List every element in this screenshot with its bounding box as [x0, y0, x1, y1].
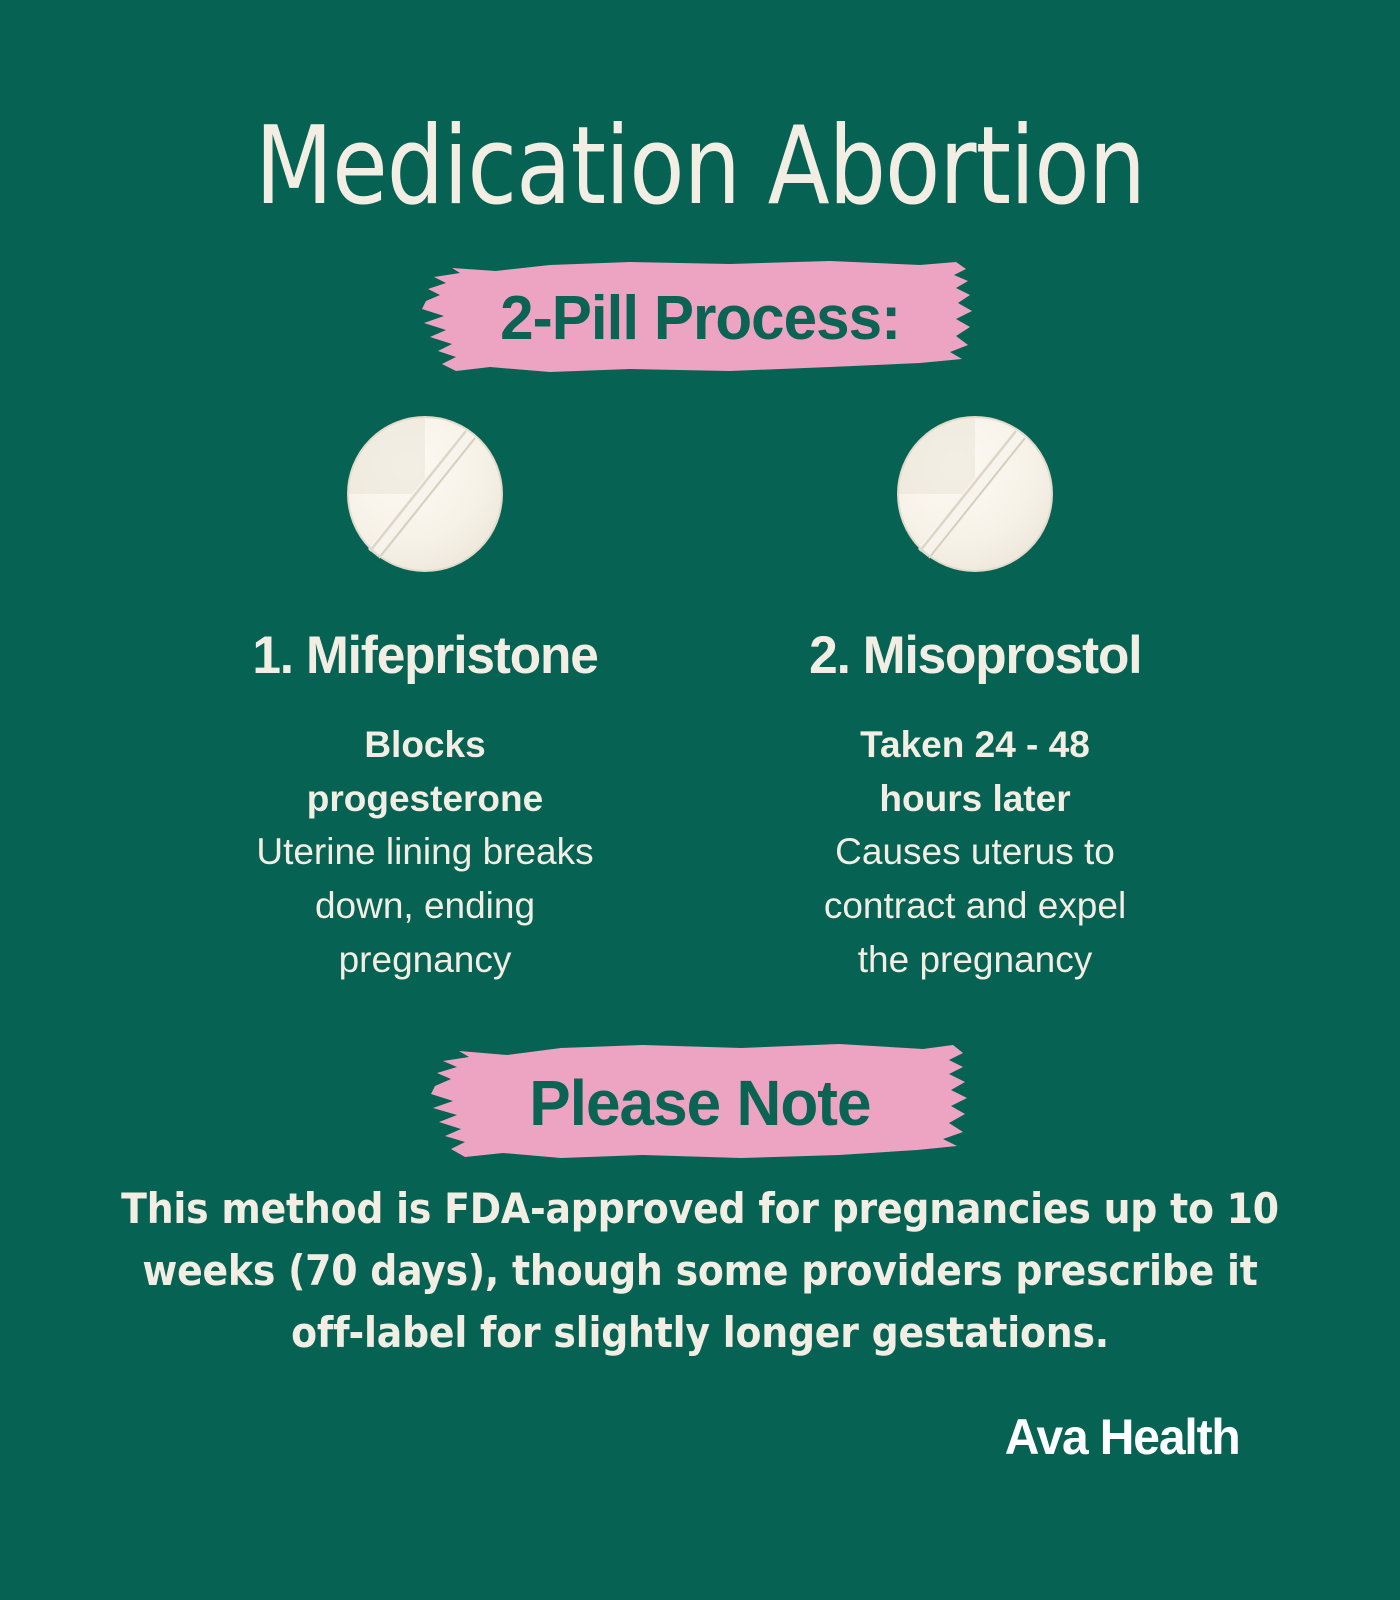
step-bold-text-2: Taken 24 - 48 hours later — [805, 718, 1145, 825]
step-plain-text-1: Uterine lining breaks down, ending pregn… — [255, 825, 595, 986]
step-description-2: Taken 24 - 48 hours later Causes uterus … — [805, 718, 1145, 986]
please-note-banner: Please Note — [0, 1040, 1400, 1165]
step-plain-text-2: Causes uterus to contract and expel the … — [805, 825, 1145, 986]
step-description-1: Blocks progesterone Uterine lining break… — [255, 718, 595, 986]
brand-logo: Ava Health — [1005, 1408, 1240, 1466]
round-tablet-icon — [896, 415, 1054, 573]
steps-container: 1. Mifepristone Blocks progesterone Uter… — [0, 415, 1400, 986]
please-note-banner-label: Please Note — [467, 1066, 932, 1140]
step-heading-1: 1. Mifepristone — [252, 625, 597, 686]
infographic-poster: Medication Abortion 2-Pill Process: — [0, 0, 1400, 1600]
step-column-2: 2. Misoprostol Taken 24 - 48 hours later… — [700, 415, 1250, 986]
step-heading-2: 2. Misoprostol — [809, 625, 1141, 686]
round-tablet-icon — [346, 415, 504, 573]
page-title: Medication Abortion — [49, 110, 1351, 223]
step-column-1: 1. Mifepristone Blocks progesterone Uter… — [150, 415, 700, 986]
pill-process-banner: 2-Pill Process: — [0, 258, 1400, 378]
note-body-text: This method is FDA-approved for pregnanc… — [120, 1178, 1280, 1364]
pill-process-banner-label: 2-Pill Process: — [446, 283, 955, 354]
step-bold-text-1: Blocks progesterone — [255, 718, 595, 825]
